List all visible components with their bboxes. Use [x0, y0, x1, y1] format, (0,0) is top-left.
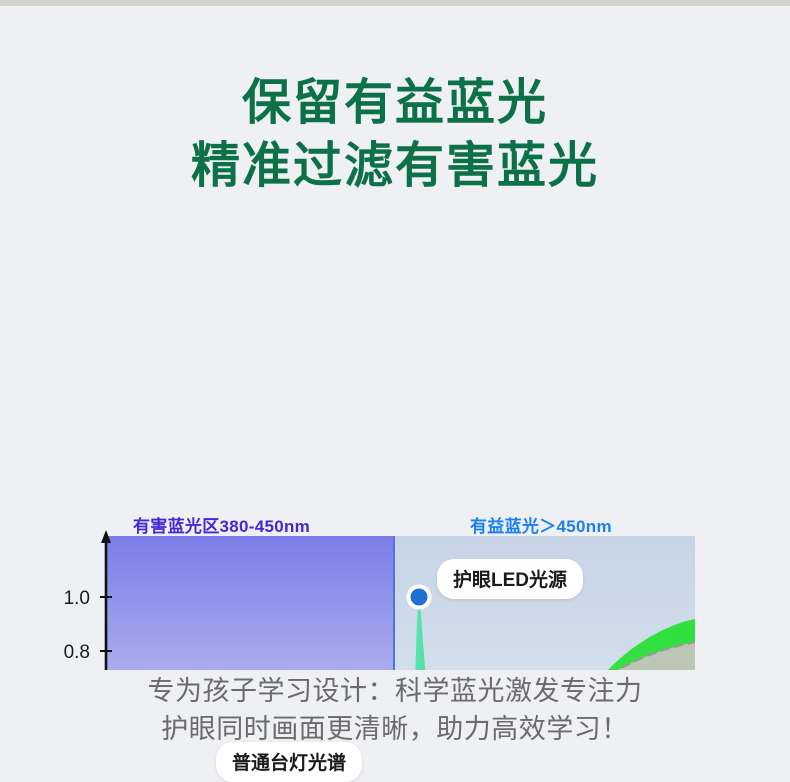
region-label-beneficial: 有益蓝光＞450nm — [470, 512, 612, 537]
spectrum-chart: 0.0 0.2 0.4 0.6 0.8 1.0 380 395 410 425 … — [0, 250, 790, 670]
region-label-harmful: 有害蓝光区380-450nm — [133, 512, 310, 537]
y-tick-label: 1.0 — [64, 588, 90, 609]
led-peak-marker-dot — [411, 589, 428, 606]
badge-led-light-source: 护眼LED光源 — [437, 559, 583, 599]
caption-line-1: 专为孩子学习设计：科学蓝光激发专注力 — [0, 672, 790, 710]
chart-svg: 0.0 0.2 0.4 0.6 0.8 1.0 380 395 410 425 … — [0, 250, 790, 670]
headline-line-2: 精准过滤有害蓝光 — [0, 135, 790, 198]
region-harmful-blue — [106, 536, 394, 670]
plot-background-regions — [106, 536, 695, 670]
page-headline: 保留有益蓝光 精准过滤有害蓝光 — [0, 72, 790, 197]
headline-line-1: 保留有益蓝光 — [0, 72, 790, 135]
top-strip — [0, 0, 790, 6]
page-caption: 专为孩子学习设计：科学蓝光激发专注力 护眼同时画面更清晰，助力高效学习！ — [0, 672, 790, 749]
led-peak-marker[interactable] — [407, 585, 432, 610]
y-tick-label: 0.8 — [64, 642, 90, 663]
y-axis-tick-labels: 0.0 0.2 0.4 0.6 0.8 1.0 — [64, 588, 91, 670]
caption-line-2: 护眼同时画面更清晰，助力高效学习！ — [0, 710, 790, 748]
